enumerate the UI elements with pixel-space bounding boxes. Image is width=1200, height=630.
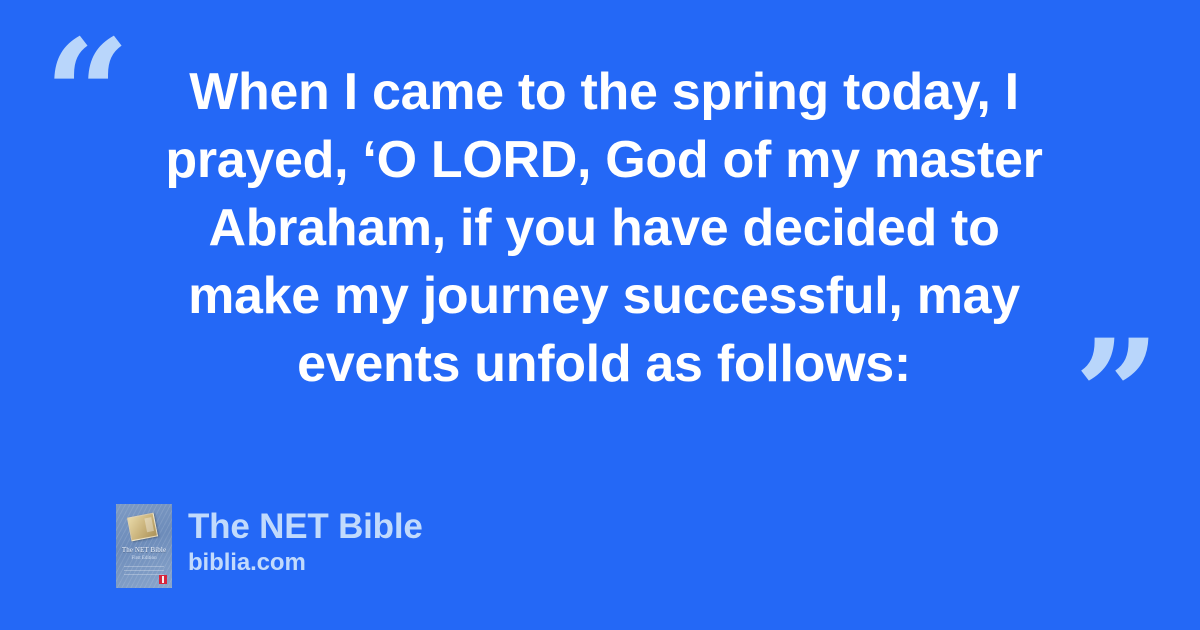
book-cover-edition: First Edition: [116, 556, 172, 562]
close-quote-icon: ”: [1074, 320, 1160, 470]
book-cover-thumbnail: The NET Bible First Edition: [116, 504, 172, 588]
quote-card: “ When I came to the spring today, I pra…: [0, 0, 1200, 630]
quote-line: Abraham, if you have decided to: [140, 194, 1068, 262]
brand-title: The NET Bible: [188, 506, 423, 548]
book-cover-artwork-icon: [127, 513, 158, 542]
quote-line: events unfold as follows:: [140, 330, 1068, 398]
branding[interactable]: The NET Bible First Edition The NET Bibl…: [116, 504, 423, 588]
book-cover-title: The NET Bible: [116, 546, 172, 554]
book-cover-texture: [124, 566, 164, 578]
brand-url[interactable]: biblia.com: [188, 548, 423, 578]
quote-line: prayed, ‘O LORD, God of my master: [140, 126, 1068, 194]
publisher-logo-icon: [159, 575, 167, 584]
open-quote-icon: “: [44, 20, 130, 170]
branding-text: The NET Bible biblia.com: [188, 504, 423, 578]
quote-line: make my journey successful, may: [140, 262, 1068, 330]
quote-line: When I came to the spring today, I: [140, 58, 1068, 126]
quote-text-block: When I came to the spring today, I praye…: [140, 58, 1068, 398]
